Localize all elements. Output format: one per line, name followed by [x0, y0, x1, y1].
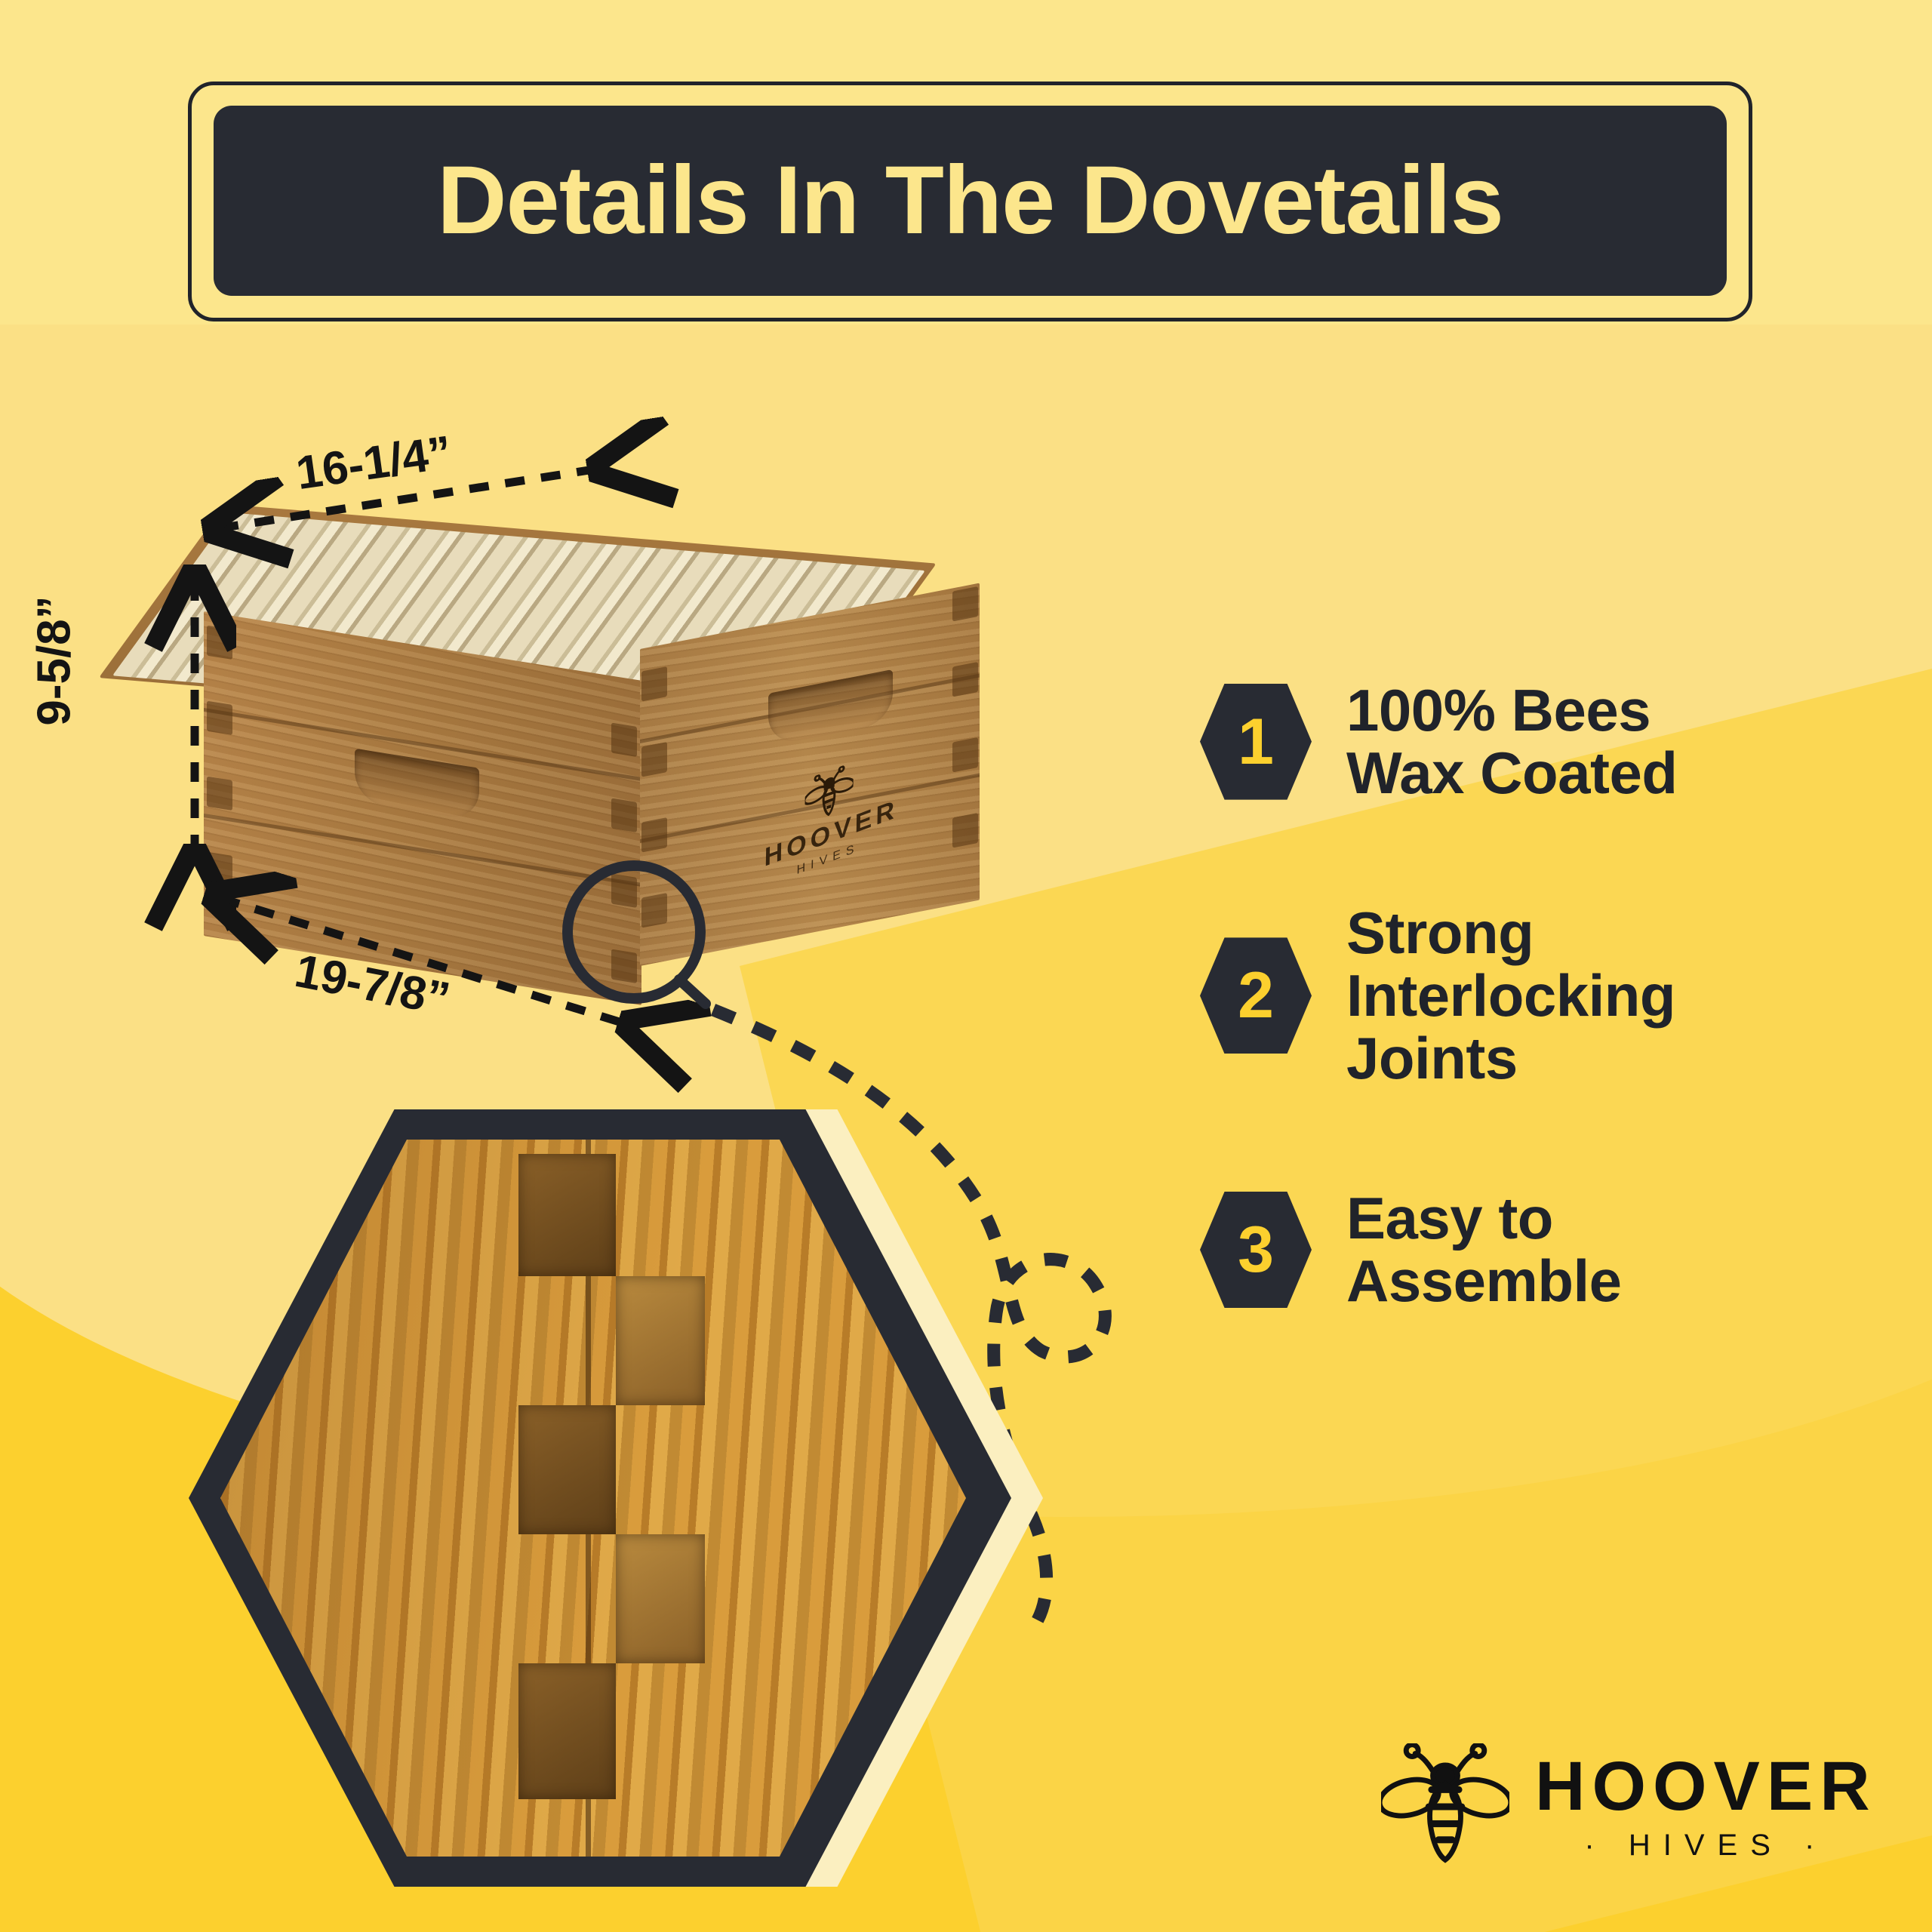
feature-item-3: 3 Easy to Assemble: [1200, 1187, 1879, 1312]
dimension-label-height-left: 9-5/8”: [28, 595, 82, 725]
infographic-canvas: Details In The Dovetails: [0, 0, 1932, 1932]
feature-line: Easy to: [1346, 1187, 1622, 1250]
feature-number-badge-2: 2: [1200, 937, 1312, 1054]
feature-number-2: 2: [1238, 963, 1274, 1028]
footer-brand-main: HOOVER: [1535, 1752, 1877, 1821]
feature-label-2: Strong Interlocking Joints: [1346, 902, 1675, 1089]
feature-line: Strong: [1346, 902, 1675, 964]
footer-brand-logo: HOOVER · HIVES ·: [1381, 1743, 1877, 1868]
feature-line: Interlocking: [1346, 964, 1675, 1027]
feature-line: Joints: [1346, 1027, 1675, 1090]
bee-icon: [1381, 1743, 1509, 1868]
dovetail-detail-hexagon: [189, 1109, 1011, 1887]
feature-label-3: Easy to Assemble: [1346, 1187, 1622, 1312]
feature-number-badge-3: 3: [1200, 1192, 1312, 1308]
footer-brand-sub: · HIVES ·: [1535, 1830, 1877, 1860]
feature-line: Wax Coated: [1346, 742, 1678, 804]
feature-number-3: 3: [1238, 1217, 1274, 1282]
feature-line: Assemble: [1346, 1250, 1622, 1312]
feature-number-badge-1: 1: [1200, 684, 1312, 800]
footer-brand-text: HOOVER · HIVES ·: [1535, 1752, 1877, 1860]
feature-line: 100% Bees: [1346, 679, 1678, 742]
feature-number-1: 1: [1238, 709, 1274, 774]
feature-item-2: 2 Strong Interlocking Joints: [1200, 902, 1879, 1089]
magnifier-handle-icon: [679, 980, 706, 1004]
feature-label-1: 100% Bees Wax Coated: [1346, 679, 1678, 804]
feature-list: 1 100% Bees Wax Coated 2 Strong Interloc…: [1200, 679, 1879, 1411]
feature-item-1: 1 100% Bees Wax Coated: [1200, 679, 1879, 804]
